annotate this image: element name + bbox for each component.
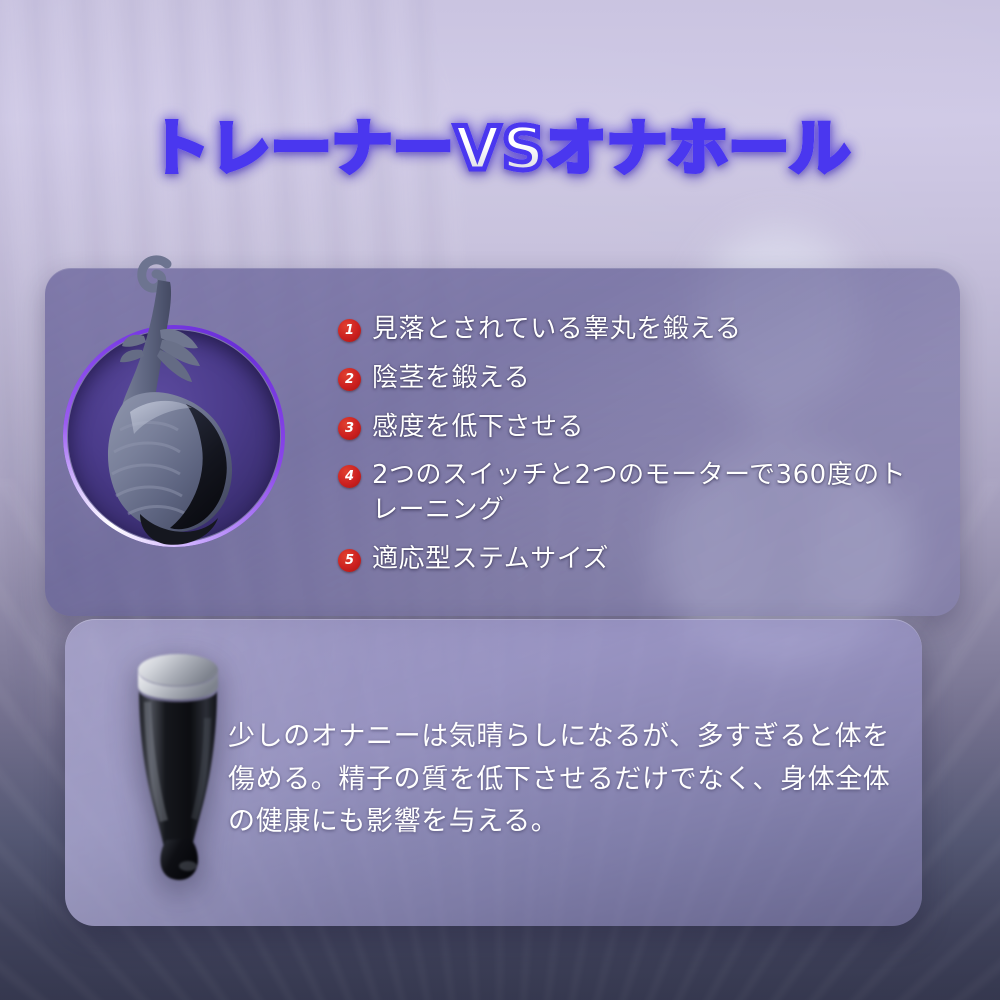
feature-list: 1 見落とされている睾丸を鍛える 2 陰茎を鍛える 3 感度を低下させる 4 2… bbox=[338, 312, 924, 577]
number-badge-icon: 2 bbox=[338, 368, 361, 391]
list-item: 1 見落とされている睾丸を鍛える bbox=[338, 312, 924, 347]
number-badge-icon: 3 bbox=[338, 417, 361, 440]
feature-text: 適応型ステムサイズ bbox=[372, 542, 609, 577]
description-paragraph: 少しのオナニーは気晴らしになるが、多すぎると体を傷める。精子の質を低下させるだけ… bbox=[228, 716, 900, 844]
list-item: 3 感度を低下させる bbox=[338, 410, 924, 445]
feature-text: 陰茎を鍛える bbox=[372, 361, 530, 396]
feature-text: 感度を低下させる bbox=[372, 410, 584, 445]
number-badge-icon: 5 bbox=[338, 549, 361, 572]
trainer-product-circle bbox=[68, 330, 280, 542]
number-badge-icon: 1 bbox=[338, 319, 361, 342]
glowing-ring-icon bbox=[63, 325, 285, 547]
list-item: 5 適応型ステムサイズ bbox=[338, 542, 924, 577]
feature-text: 見落とされている睾丸を鍛える bbox=[372, 312, 741, 347]
page-title-wrap: トレーナーVSオナホール bbox=[0, 116, 1000, 183]
product-feature-page: トレーナーVSオナホール bbox=[0, 0, 1000, 1000]
page-title: トレーナーVSオナホール bbox=[149, 116, 851, 183]
number-badge-icon: 4 bbox=[338, 465, 361, 488]
feature-text: 2つのスイッチと2つのモーターで360度のトレーニング bbox=[372, 458, 924, 528]
list-item: 2 陰茎を鍛える bbox=[338, 361, 924, 396]
list-item: 4 2つのスイッチと2つのモーターで360度のトレーニング bbox=[338, 458, 924, 528]
